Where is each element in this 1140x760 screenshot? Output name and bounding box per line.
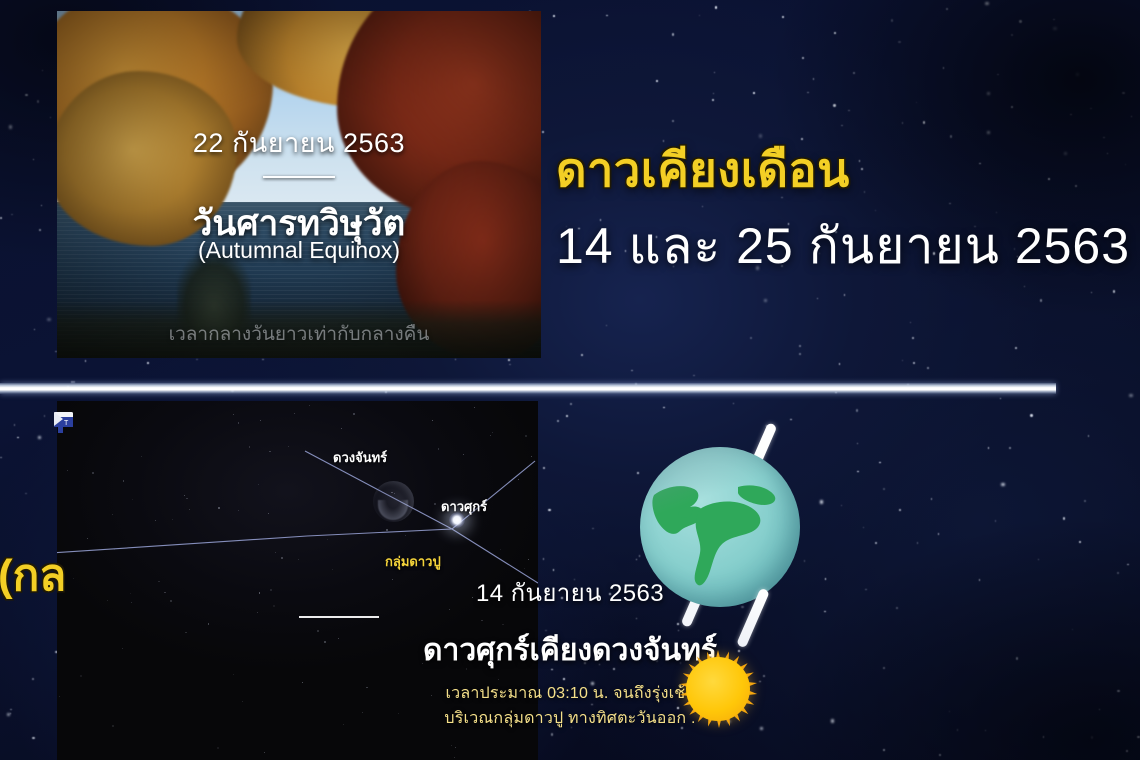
headline-date: 14 และ 25 กันยายน 2563 — [556, 207, 1130, 286]
channel-watermark-icon: T — [52, 409, 75, 434]
autumnal-equinox-card[interactable]: 22 กันยายน 2563 วันศารทวิษุวัต (Autumnal… — [57, 11, 541, 358]
earth-continents — [640, 447, 800, 607]
left-partial-caption: (กล — [0, 540, 66, 610]
chart-label-moon: ดวงจันทร์ — [333, 447, 387, 468]
venus-note-line2: บริเวณกลุ่มดาวปู ทางทิศตะวันออก . — [0, 706, 1140, 731]
earth-sun-tilt-diagram — [620, 405, 860, 750]
headline-title: ดาวเคียงเดือน — [556, 132, 850, 207]
venus-note-line1: เวลาประมาณ 03:10 น. จนถึงรุ่งเช้า — [0, 681, 1140, 706]
venus-title-text: ดาวศุกร์เคียงดวงจันทร์ — [0, 627, 1140, 674]
photo-vignette — [57, 11, 541, 358]
venus-title-rule — [299, 616, 379, 618]
autumn-note-text: เวลากลางวันยาวเท่ากับกลางคืน — [57, 319, 541, 349]
horizontal-divider — [0, 383, 1056, 394]
svg-text:T: T — [64, 420, 69, 427]
chart-label-cancer: กลุ่มดาวปู — [385, 551, 441, 572]
sun-icon — [679, 650, 757, 728]
chart-label-venus: ดาวศุกร์ — [441, 496, 487, 517]
autumn-date-text: 22 กันยายน 2563 — [57, 121, 541, 164]
autumn-subtitle-text: (Autumnal Equinox) — [57, 237, 541, 264]
slide-stage: ดาวเคียงเดือน 14 และ 25 กันยายน 2563 (กล… — [0, 0, 1140, 760]
autumn-title-rule — [263, 176, 335, 178]
venus-date-text: 14 กันยายน 2563 — [0, 573, 1140, 612]
sun-core — [686, 657, 750, 721]
earth-globe — [640, 447, 800, 607]
autumn-foliage-lake-photo — [57, 11, 541, 358]
